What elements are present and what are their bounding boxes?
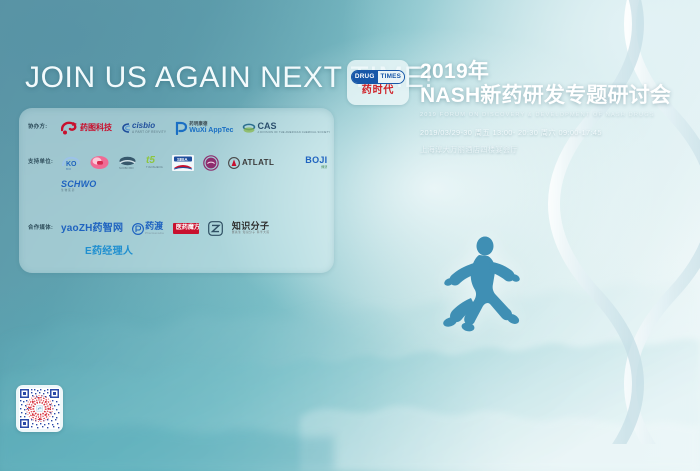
zhishifenzi-logo: 知识分子 赛先生 知识分子 科学大院 <box>232 220 270 237</box>
logo-text: t5 <box>146 156 163 166</box>
wechat-qr-code[interactable] <box>16 385 63 432</box>
pill-right-text: TIMES <box>378 71 405 83</box>
ko-mark-icon: KO BIO <box>61 155 81 171</box>
event-venue: 上海淳大万丽酒店四楼宴会厅 <box>420 145 671 155</box>
event-datetime: 2019/03/29-30 周五 13:00- 20:30 周六 09:00-1… <box>420 127 671 138</box>
sponsor-row-media-partners: 合作媒体: yaoZH药智网 药渡 Pharmacodia <box>19 216 334 273</box>
sponsor-row-label: 协办方: <box>28 125 61 130</box>
conference-poster: JOIN US AGAIN NEXT TIME! 协办方: 药图科技 <box>0 0 700 471</box>
event-title-block: DRUG TIMES 药时代 2019年 NASH新药研发专题研讨会 2019 … <box>347 60 671 155</box>
ko-logo: KO BIO <box>61 154 81 171</box>
logo-text: E药经理人 <box>85 247 133 257</box>
logo-subtext: 赛先生 知识分子 科学大院 <box>232 232 270 235</box>
running-man-silhouette <box>432 232 528 342</box>
logo-text: CAS <box>257 122 330 131</box>
logo-text: WuXi AppTec <box>189 127 233 134</box>
yaotu-keji-logo: 药图科技 <box>61 120 112 137</box>
sponsor-panel: 协办方: 药图科技 cisbio <box>19 108 334 273</box>
cas-mark-icon <box>242 122 256 135</box>
svg-text:BIO: BIO <box>66 167 72 171</box>
logo-text: ATLATL <box>242 159 274 167</box>
cas-logo: CAS A DIVISION OF THE AMERICAN CHEMICAL … <box>242 120 330 137</box>
svg-text:NUOBO BIO: NUOBO BIO <box>119 166 134 170</box>
sponsor-row-co-organizers: 协办方: 药图科技 cisbio <box>19 108 334 148</box>
pharmcube-logo: 医药魔方 <box>173 220 199 237</box>
sponsor-row-label: 支持单位: <box>28 154 61 165</box>
logo-subtext: 药明康德 <box>189 122 233 126</box>
title-main: NASH新药研发专题研讨会 <box>420 84 671 107</box>
wuxi-apptec-mark-icon <box>175 121 188 135</box>
eyao-logo: E药经理人 <box>85 243 133 260</box>
title-column: 2019年 NASH新药研发专题研讨会 2019 FORUM ON DISCOV… <box>420 60 671 155</box>
logo-subtext: A DIVISION OF THE AMERICAN CHEMICAL SOCI… <box>257 132 330 135</box>
logo-text: cisbio <box>132 122 166 130</box>
title-year: 2019年 <box>420 61 671 84</box>
svg-text:SBIA: SBIA <box>177 157 188 162</box>
logo-subtext: A PART OF REVVITY <box>132 131 166 134</box>
drug-times-logo: DRUG TIMES 药时代 <box>347 60 409 105</box>
atlatl-mark-icon <box>228 157 240 169</box>
pill-left-text: DRUG <box>352 71 378 83</box>
cisbio-mark-icon <box>121 122 131 134</box>
ts-logo: t5 TIANSHENG <box>146 154 163 171</box>
logo-subtext: TIANSHENG <box>146 167 163 170</box>
sponsor-row-supporters: 支持单位: KO BIO <box>19 148 334 216</box>
pink-circle-mark-icon <box>90 155 109 170</box>
qr-code-graphic <box>19 388 60 429</box>
logo-text: 知识分子 <box>232 222 270 231</box>
sbia-mark-icon: SBIA <box>172 155 194 171</box>
atlatl-logo: ATLATL <box>228 154 274 171</box>
logo-text: SCHWO <box>61 180 97 189</box>
yaozh-logo: yaoZH药智网 <box>61 220 123 237</box>
sbia-logo: SBIA <box>172 154 194 171</box>
logo-subtext: 生物医药 <box>61 190 97 193</box>
logo-text: 药渡 <box>145 222 164 231</box>
z-mark-icon <box>208 221 223 236</box>
pink-circle-logo <box>90 154 109 171</box>
boji-logo: BOJI 博济 <box>305 154 327 171</box>
nuobo-mark-icon: NUOBO BIO <box>118 155 137 170</box>
drug-times-chinese: 药时代 <box>362 86 394 96</box>
z-logo <box>208 220 223 237</box>
wuxi-apptec-logo: 药明康德 WuXi AppTec <box>175 120 233 137</box>
schwo-logo: SCHWO 生物医药 <box>61 178 97 195</box>
nuobo-logo: NUOBO BIO <box>118 154 137 171</box>
logo-text: 药图科技 <box>80 124 112 132</box>
yaotu-mark-icon <box>61 121 78 136</box>
cisbio-logo: cisbio A PART OF REVVITY <box>121 120 166 137</box>
logo-text: 医药魔方 <box>176 225 196 232</box>
logo-text: yaoZH药智网 <box>61 224 123 234</box>
logo-subtext: 博济 <box>305 166 327 169</box>
logo-text: BOJI <box>305 156 327 165</box>
purple-circle-logo <box>203 154 219 171</box>
pharmacodia-logo: 药渡 Pharmacodia <box>132 220 164 237</box>
logo-subtext: Pharmacodia <box>145 232 164 235</box>
pharmacodia-mark-icon <box>132 223 144 235</box>
purple-circle-mark-icon <box>203 155 219 171</box>
title-english: 2019 FORUM ON DISCOVERY & DEVELOPMENT OF… <box>420 112 671 118</box>
drug-times-pill: DRUG TIMES <box>351 70 405 84</box>
sponsor-row-label: 合作媒体: <box>28 220 61 231</box>
